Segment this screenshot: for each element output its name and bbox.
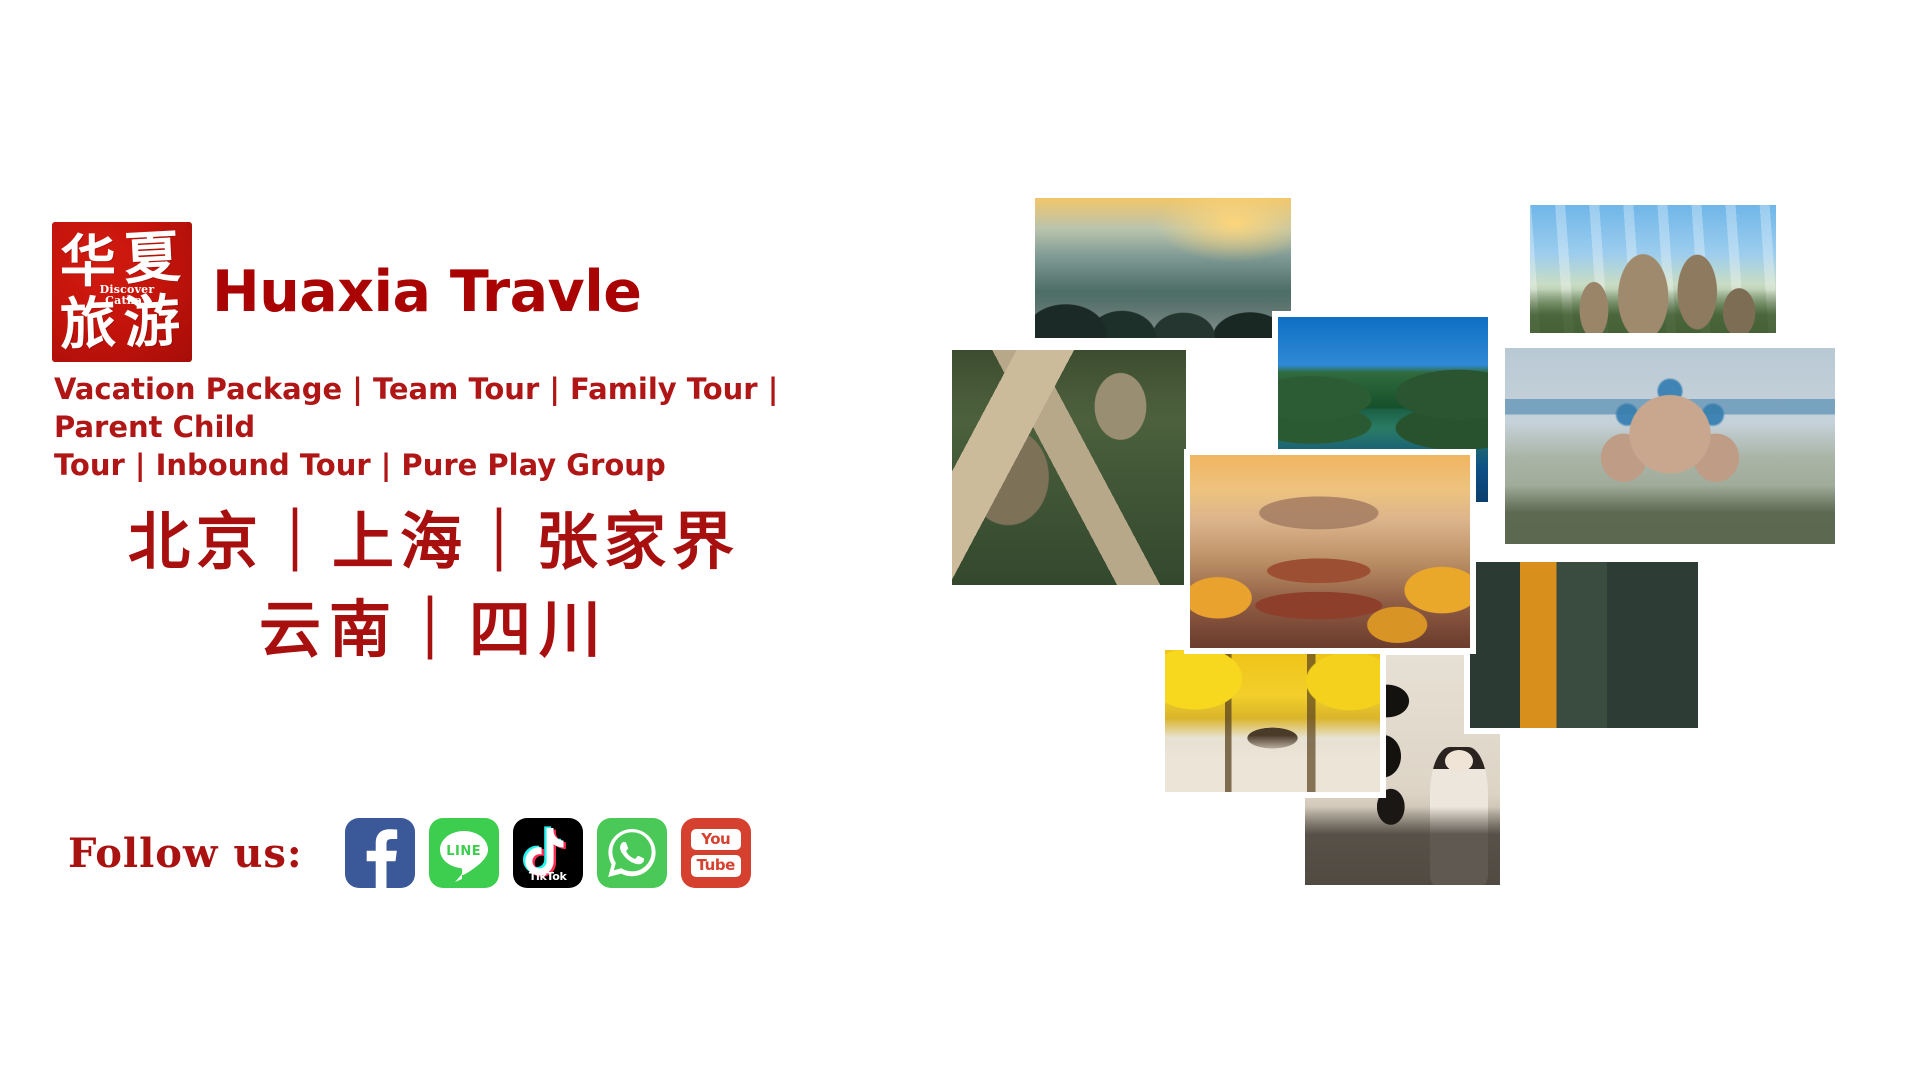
youtube-glyph xyxy=(681,818,751,888)
brand-title: Huaxia Travle xyxy=(212,264,641,321)
temple-steps-photo xyxy=(1470,562,1698,728)
disney-castle-photo xyxy=(1505,348,1835,544)
youtube-wordmark-bottom: Tube xyxy=(681,857,751,874)
facebook-glyph xyxy=(345,818,415,888)
follow-us-label: Follow us: xyxy=(68,830,303,877)
social-icon-list: LINE TikTok xyxy=(345,818,751,888)
services-line-2: Tour | Inbound Tour | Pure Play Group xyxy=(54,446,844,484)
destination-photo-collage xyxy=(880,0,1920,1080)
great-wall-photo xyxy=(952,350,1186,585)
logo-char-hua: 华 xyxy=(60,234,116,290)
destinations-list: 北京｜上海｜张家界 云南｜四川 xyxy=(54,498,814,674)
left-info-panel: 华 夏 旅 游 Discover Cathay Huaxia Travle Va… xyxy=(0,0,880,1080)
lady-figure xyxy=(1430,747,1489,885)
services-line-1: Vacation Package | Team Tour | Family To… xyxy=(54,370,844,446)
monk-figure xyxy=(1602,648,1618,694)
ginkgo-avenue-photo xyxy=(1165,650,1380,792)
whatsapp-glyph xyxy=(597,818,667,888)
misty-mountains-photo xyxy=(1035,198,1291,338)
huaxia-logo: 华 夏 旅 游 Discover Cathay xyxy=(52,222,192,362)
logo-subtitle: Discover Cathay xyxy=(92,284,162,306)
line-wordmark: LINE xyxy=(429,844,499,859)
logo-char-xia: 夏 xyxy=(123,229,182,288)
youtube-wordmark-top: You xyxy=(681,831,751,848)
facebook-icon[interactable] xyxy=(345,818,415,888)
destinations-line-2: 云南｜四川 xyxy=(54,586,814,674)
forbidden-city-photo xyxy=(1190,455,1470,648)
line-icon[interactable]: LINE xyxy=(429,818,499,888)
follow-us-row: Follow us: LINE TikT xyxy=(68,818,751,888)
services-tagline: Vacation Package | Team Tour | Family To… xyxy=(54,370,844,484)
youtube-icon[interactable]: You Tube xyxy=(681,818,751,888)
zhangjiajie-pillars-photo xyxy=(1530,205,1776,333)
tiktok-wordmark: TikTok xyxy=(513,870,583,883)
destinations-line-1: 北京｜上海｜张家界 xyxy=(54,498,814,586)
whatsapp-icon[interactable] xyxy=(597,818,667,888)
brand-header: 华 夏 旅 游 Discover Cathay Huaxia Travle xyxy=(52,222,641,362)
tiktok-icon[interactable]: TikTok xyxy=(513,818,583,888)
